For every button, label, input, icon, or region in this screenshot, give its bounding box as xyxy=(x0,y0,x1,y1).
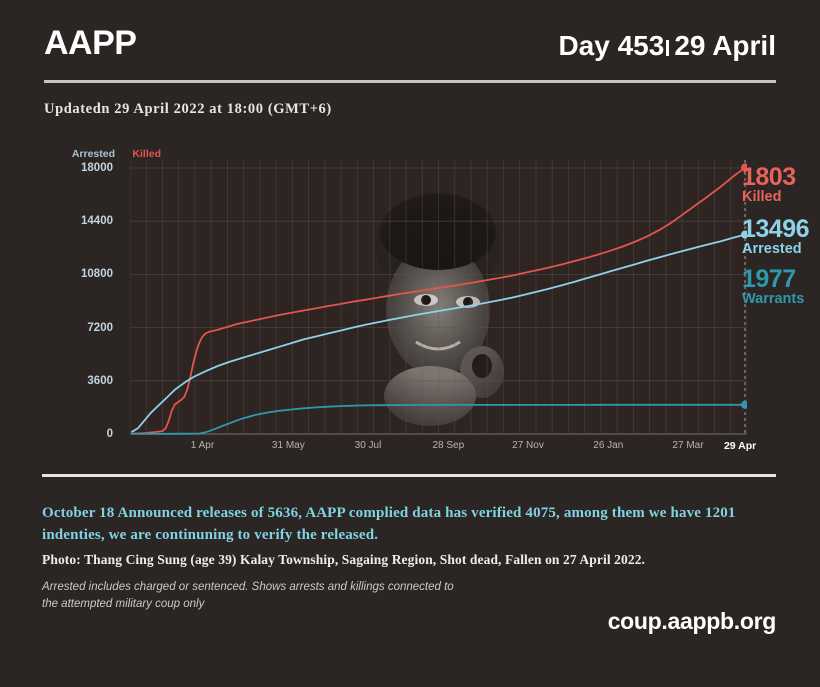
header-row: AAPP Day 453 29 April xyxy=(44,26,776,60)
x-tick-label: 26 Jan xyxy=(593,440,623,451)
date-label: 29 April xyxy=(674,32,776,60)
callout-arrested: 13496 Arrested xyxy=(742,218,809,257)
header-divider xyxy=(44,80,776,83)
callout-warrants-value: 1977 xyxy=(742,268,804,292)
methodology-note: Arrested includes charged or sentenced. … xyxy=(42,579,462,612)
callout-warrants: 1977 Warrants xyxy=(742,268,804,307)
y-tick-arrested: 0 xyxy=(107,428,113,440)
axis-header-killed: Killed xyxy=(132,148,161,160)
y-tick-arrested: 14400 xyxy=(81,215,113,227)
callout-arrested-value: 13496 xyxy=(742,218,809,242)
x-axis-tick-labels: 1 Apr31 May30 Jul28 Sep27 Nov26 Jan27 Ma… xyxy=(130,440,820,458)
plot-area xyxy=(130,160,747,436)
photo-credit: Photo: Thang Cing Sung (age 39) Kalay To… xyxy=(42,552,782,568)
x-tick-label: 28 Sep xyxy=(432,440,464,451)
x-tick-label: 31 May xyxy=(272,440,305,451)
infographic-page: AAPP Day 453 29 April Updatedn 29 April … xyxy=(0,0,820,687)
plot-svg xyxy=(130,160,747,436)
callout-killed-value: 1803 xyxy=(742,166,796,190)
x-tick-label: 27 Mar xyxy=(672,440,703,451)
axis-header-arrested: Arrested xyxy=(72,148,115,160)
x-tick-label: 1 Apr xyxy=(191,440,214,451)
release-note: October 18 Announced releases of 5636, A… xyxy=(42,503,780,547)
header: AAPP Day 453 29 April xyxy=(44,26,776,60)
x-tick-label: 30 Jul xyxy=(355,440,382,451)
chart: Arrested Killed 036004007200700108001100… xyxy=(36,148,784,438)
y-tick-arrested: 3600 xyxy=(87,375,113,387)
callout-arrested-label: Arrested xyxy=(742,242,809,257)
y-tick-arrested: 10800 xyxy=(81,268,113,280)
footer-divider xyxy=(42,474,776,477)
y-tick-arrested: 18000 xyxy=(81,162,113,174)
day-separator-icon xyxy=(666,40,669,56)
x-tick-label: 29 Apr xyxy=(724,440,756,452)
chart-callouts: 1803 Killed 13496 Arrested 1977 Warrants xyxy=(742,156,820,436)
updated-timestamp: Updatedn 29 April 2022 at 18:00 (GMT+6) xyxy=(44,101,332,118)
callout-killed-label: Killed xyxy=(742,190,796,205)
day-label: Day 453 xyxy=(558,32,664,60)
website-url: coup.aappb.org xyxy=(608,608,776,635)
y-tick-arrested: 7200 xyxy=(87,322,113,334)
callout-killed: 1803 Killed xyxy=(742,166,796,205)
x-tick-label: 27 Nov xyxy=(512,440,544,451)
memorial-photo xyxy=(376,192,504,426)
callout-warrants-label: Warrants xyxy=(742,292,804,307)
brand-title: AAPP xyxy=(44,26,136,60)
day-counter: Day 453 29 April xyxy=(558,32,776,60)
